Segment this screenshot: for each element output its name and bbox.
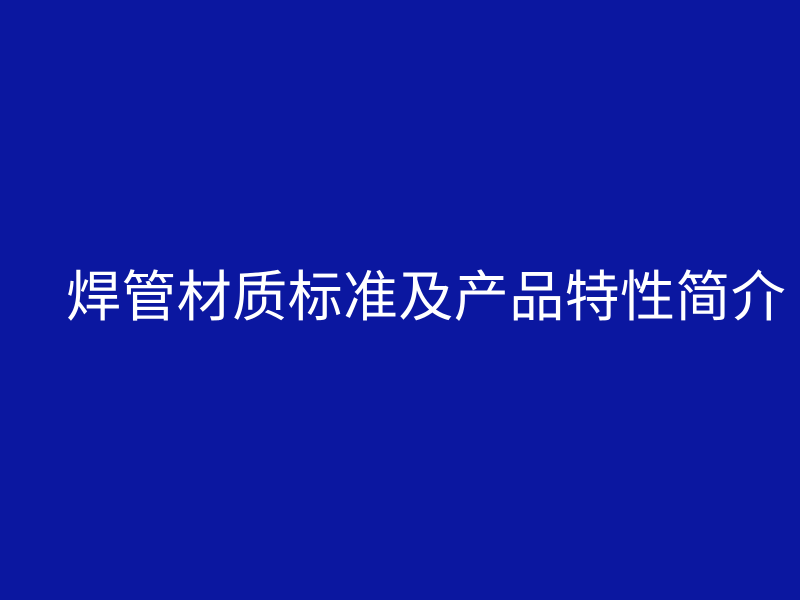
slide-title: 焊管材质标准及产品特性简介 <box>0 270 786 325</box>
title-slide: 焊管材质标准及产品特性简介 <box>0 0 800 600</box>
title-block: 焊管材质标准及产品特性简介 <box>0 0 800 600</box>
